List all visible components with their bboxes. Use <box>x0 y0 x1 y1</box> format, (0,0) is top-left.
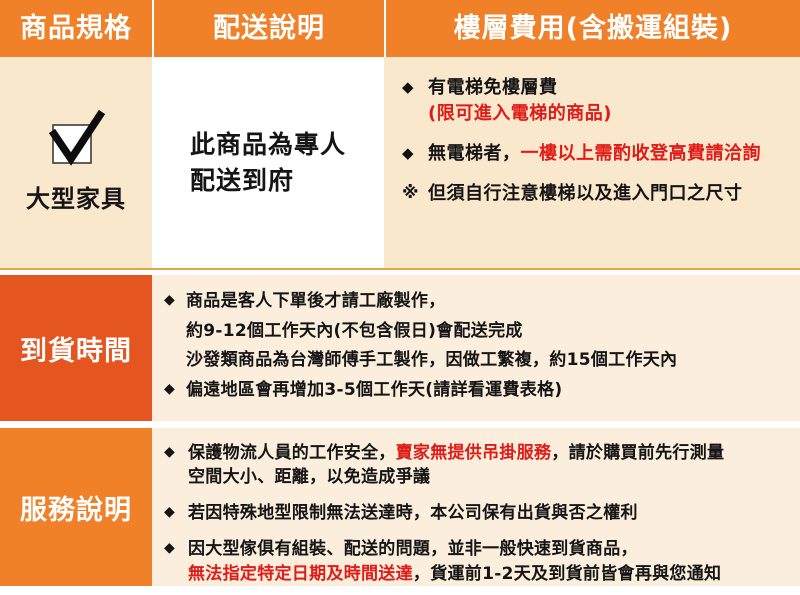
service-note-item-3-line2: 無法指定特定日期及時間送達，貨運前1-2天及到貨前皆會再與您通知 <box>164 562 792 586</box>
service-note-item-1-lead: 保護物流人員的工作安全， <box>188 443 396 463</box>
floor-fee-item-1: ◆ 有電梯免樓層費 (限可進入電梯的商品) <box>402 75 786 127</box>
header-cell-floor-fee: 樓層費用(含搬運組裝) <box>386 0 800 57</box>
floor-fee-item-2-lead: 無電梯者， <box>428 143 521 164</box>
header-cell-delivery: 配送說明 <box>154 0 384 57</box>
floor-fee-item-1-body: 有電梯免樓層費 (限可進入電梯的商品) <box>428 75 786 127</box>
cell-floor-fee: ◆ 有電梯免樓層費 (限可進入電梯的商品) ◆ 無電梯者，一樓以上需酌收登高費請… <box>384 57 800 269</box>
arrival-time-line-1: ◆ 商品是客人下單後才請工廠製作， <box>164 289 792 314</box>
service-note-item-1-red: 賣家無提供吊掛服務 <box>396 443 552 463</box>
delivery-note-line-2: 配送到府 <box>190 163 346 199</box>
arrival-time-line-2-text: 約9-12個工作天內(不包含假日)會配送完成 <box>186 319 792 344</box>
checkbox-checked-icon <box>45 109 107 171</box>
row1-body: 大型家具 此商品為專人 配送到府 ◆ 有電梯免樓層費 (限可進入電梯的商品) <box>0 57 800 269</box>
row-divider-1 <box>0 268 800 270</box>
delivery-note-line-1: 此商品為專人 <box>190 127 346 163</box>
header-cell-spec: 商品規格 <box>0 0 152 57</box>
reference-mark-icon: ※ <box>402 181 428 206</box>
header-label-delivery: 配送說明 <box>213 15 325 42</box>
cell-delivery-note: 此商品為專人 配送到府 <box>152 57 384 269</box>
row-service-note: 服務說明 ◆ 保護物流人員的工作安全，賣家無提供吊掛服務，請於購買前先行測量 空… <box>0 428 800 586</box>
service-note-item-3-tail: ，貨運前1-2天及到貨前皆會再與您通知 <box>413 564 721 584</box>
row-arrival-time: 到貨時間 ◆ 商品是客人下單後才請工廠製作， 約9-12個工作天內(不包含假日)… <box>0 275 800 421</box>
service-note-item-2-text: 若因特殊地型限制無法送達時，本公司保有出貨與否之權利 <box>188 501 792 525</box>
diamond-bullet-icon: ◆ <box>164 378 186 400</box>
arrival-time-line-4: ◆ 偏遠地區會再增加3-5個工作天(請詳看運費表格) <box>164 378 792 403</box>
service-note-content: ◆ 保護物流人員的工作安全，賣家無提供吊掛服務，請於購買前先行測量 空間大小、距… <box>152 428 800 586</box>
diamond-bullet-icon: ◆ <box>402 75 428 99</box>
service-note-item-3: ◆ 因大型傢俱有組裝、配送的問題，並非一般快速到貨商品， 無法指定特定日期及時間… <box>164 537 792 585</box>
arrival-time-line-1-text: 商品是客人下單後才請工廠製作， <box>186 289 792 314</box>
service-note-item-1-line2-text: 空間大小、距離，以免造成爭議 <box>188 465 792 489</box>
arrival-time-label: 到貨時間 <box>20 329 132 368</box>
cell-product-spec: 大型家具 <box>0 57 152 269</box>
label-cell-service-note: 服務說明 <box>0 428 152 586</box>
diamond-bullet-icon: ◆ <box>164 441 188 463</box>
arrival-time-content: ◆ 商品是客人下單後才請工廠製作， 約9-12個工作天內(不包含假日)會配送完成… <box>152 275 800 421</box>
arrival-time-line-3: 沙發類商品為台灣師傅手工製作，因做工繁複，約15個工作天內 <box>164 348 792 373</box>
delivery-note-text: 此商品為專人 配送到府 <box>190 127 346 200</box>
service-note-item-3-line1: ◆ 因大型傢俱有組裝、配送的問題，並非一般快速到貨商品， <box>164 537 792 561</box>
service-note-item-1-tail: ，請於購買前先行測量 <box>551 443 724 463</box>
floor-fee-item-3: ※ 但須自行注意樓梯以及進入門口之尺寸 <box>402 181 786 207</box>
service-note-item-1-line2: 空間大小、距離，以免造成爭議 <box>164 465 792 489</box>
floor-fee-item-1-line2: (限可進入電梯的商品) <box>428 103 612 124</box>
row-product-spec: 商品規格 配送說明 樓層費用(含搬運組裝) 大型家具 此商品為專人 <box>0 0 800 269</box>
floor-fee-item-3-text: 但須自行注意樓梯以及進入門口之尺寸 <box>428 181 786 207</box>
header-label-spec: 商品規格 <box>20 15 132 42</box>
arrival-time-line-2: 約9-12個工作天內(不包含假日)會配送完成 <box>164 319 792 344</box>
floor-fee-item-2: ◆ 無電梯者，一樓以上需酌收登高費請洽詢 <box>402 141 786 167</box>
service-note-item-3-red: 無法指定特定日期及時間送達 <box>188 564 413 584</box>
diamond-bullet-icon: ◆ <box>164 289 186 311</box>
shipping-info-table: 商品規格 配送說明 樓層費用(含搬運組裝) 大型家具 此商品為專人 <box>0 0 800 595</box>
diamond-bullet-icon: ◆ <box>402 141 428 165</box>
floor-fee-item-2-body: 無電梯者，一樓以上需酌收登高費請洽詢 <box>428 141 786 167</box>
diamond-bullet-icon: ◆ <box>164 501 188 523</box>
header-label-floor-fee: 樓層費用(含搬運組裝) <box>454 15 733 42</box>
arrival-time-line-4-text: 偏遠地區會再增加3-5個工作天(請詳看運費表格) <box>186 378 792 403</box>
label-cell-arrival-time: 到貨時間 <box>0 275 152 421</box>
arrival-time-line-3-text: 沙發類商品為台灣師傅手工製作，因做工繁複，約15個工作天內 <box>186 348 792 373</box>
service-note-item-1-body: 保護物流人員的工作安全，賣家無提供吊掛服務，請於購買前先行測量 <box>188 441 792 465</box>
service-note-label: 服務說明 <box>20 488 132 527</box>
service-note-item-2-line1: ◆ 若因特殊地型限制無法送達時，本公司保有出貨與否之權利 <box>164 501 792 525</box>
service-note-item-3-lead: 因大型傢俱有組裝、配送的問題，並非一般快速到貨商品， <box>188 537 792 561</box>
floor-fee-item-2-red: 一樓以上需酌收登高費請洽詢 <box>521 143 762 164</box>
service-note-item-1-line1: ◆ 保護物流人員的工作安全，賣家無提供吊掛服務，請於購買前先行測量 <box>164 441 792 465</box>
product-spec-label: 大型家具 <box>26 179 126 214</box>
floor-fee-item-1-line1: 有電梯免樓層費 <box>428 77 558 98</box>
service-note-item-2: ◆ 若因特殊地型限制無法送達時，本公司保有出貨與否之權利 <box>164 501 792 525</box>
service-note-item-3-body: 無法指定特定日期及時間送達，貨運前1-2天及到貨前皆會再與您通知 <box>188 562 792 586</box>
diamond-bullet-icon: ◆ <box>164 537 188 559</box>
service-note-item-1: ◆ 保護物流人員的工作安全，賣家無提供吊掛服務，請於購買前先行測量 空間大小、距… <box>164 441 792 489</box>
